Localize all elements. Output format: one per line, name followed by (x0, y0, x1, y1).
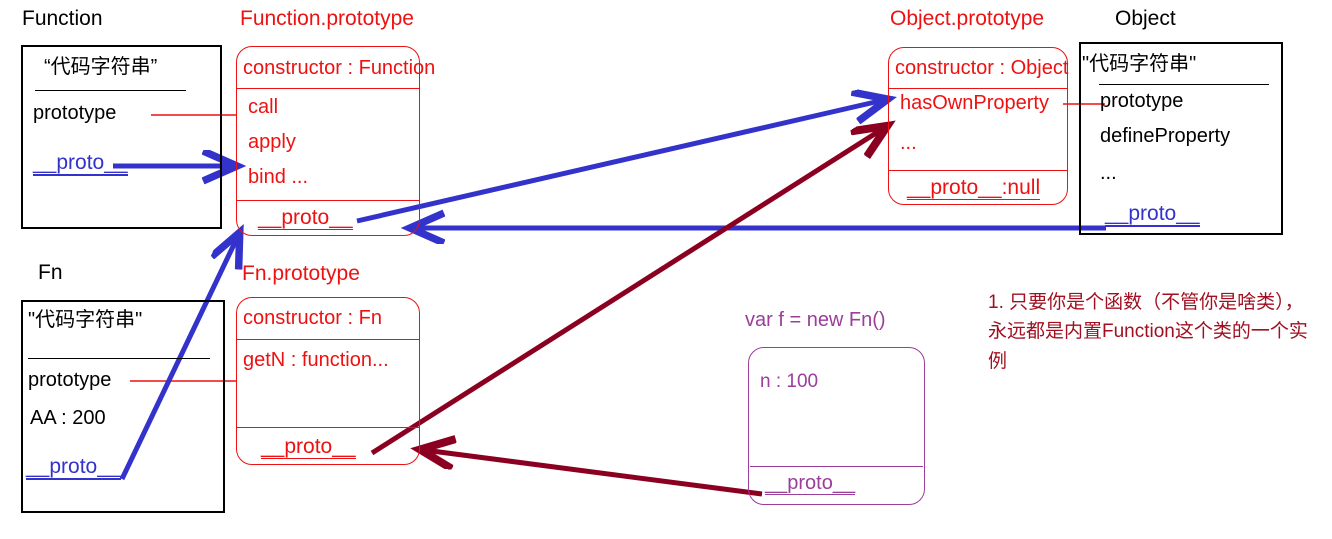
instance-box-title: var f = new Fn() (745, 310, 886, 330)
object-box-row-prototype: prototype (1100, 91, 1183, 111)
fn-prototype-proto: __proto__ (261, 436, 356, 459)
fn-prototype-row-getn: getN : function... (243, 350, 389, 370)
function-box-row-prototype: prototype (33, 103, 116, 123)
object-box-row-ellipsis: ... (1100, 163, 1117, 183)
instance-proto-to-fn-prototype-arrow (424, 450, 762, 494)
function-box-code-string: “代码字符串” (44, 57, 157, 77)
function-prototype-row-apply: apply (248, 132, 296, 152)
object-box-code-string: "代码字符串" (1082, 54, 1196, 74)
object-prototype-separator-top (889, 88, 1068, 89)
fn-prototype-separator-top (237, 339, 420, 340)
function-prototype-row-bind: bind ... (248, 167, 308, 187)
object-box-row-defineproperty: defineProperty (1100, 126, 1230, 146)
fn-box-separator (28, 358, 210, 359)
fn-prototype-constructor: constructor : Fn (243, 308, 382, 328)
note-text: 1. 只要你是个函数（不管你是啥类），永远都是内置Function这个类的一个实… (988, 288, 1318, 376)
function-prototype-proto-to-object-prototype-arrow (357, 100, 884, 221)
fn-box-proto: __proto__ (26, 456, 121, 480)
fn-prototype-separator-bottom (237, 427, 420, 428)
function-prototype-row-call: call (248, 97, 278, 117)
object-prototype-row-hasownproperty: hasOwnProperty (900, 93, 1049, 113)
object-prototype-box-title: Object.prototype (890, 8, 1044, 29)
object-prototype-separator-bottom (889, 170, 1068, 171)
fn-box-code-string: "代码字符串" (28, 310, 142, 330)
object-prototype-proto: __proto__:null (907, 177, 1040, 200)
instance-box-row-n: n : 100 (760, 372, 818, 391)
diagram-canvas: Function “代码字符串” prototype __proto__ Fun… (0, 0, 1332, 539)
function-prototype-box-title: Function.prototype (240, 8, 414, 29)
function-prototype-separator-bottom (237, 200, 420, 201)
instance-box-proto: __proto__ (765, 473, 855, 495)
function-box-proto: __proto__ (33, 152, 128, 176)
instance-box-separator (750, 466, 923, 467)
function-box-separator (35, 90, 186, 91)
object-box-proto: __proto__ (1105, 203, 1200, 227)
object-prototype-constructor: constructor : Object (895, 58, 1068, 78)
fn-box-row-prototype: prototype (28, 370, 111, 390)
fn-prototype-box-title: Fn.prototype (242, 263, 360, 284)
object-box-title: Object (1115, 8, 1176, 29)
fn-box-row-aa: AA : 200 (30, 408, 106, 428)
function-prototype-constructor: constructor : Function (243, 58, 435, 78)
object-prototype-row-ellipsis: ... (900, 133, 917, 153)
function-prototype-separator-top (237, 88, 420, 89)
function-box-title: Function (22, 8, 103, 29)
object-box-separator (1099, 84, 1269, 85)
fn-box-title: Fn (38, 262, 63, 283)
function-prototype-proto: __proto__ (258, 207, 353, 230)
